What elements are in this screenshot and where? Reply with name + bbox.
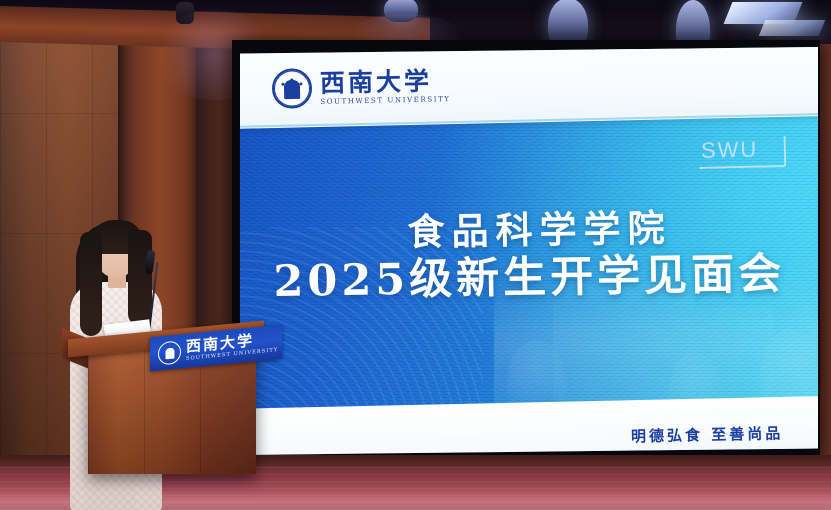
ceiling-light-panel-icon xyxy=(759,20,825,36)
slide-motto: 明德弘食 至善尚品 xyxy=(631,423,784,447)
auditorium-scene: 西南大学 SOUTHWEST UNIVERSITY SWU 食品科学学院 202… xyxy=(0,0,831,510)
ceiling-speaker-icon xyxy=(176,2,194,24)
logo-name-cn: 西南大学 xyxy=(319,68,450,96)
logo-name-en: SOUTHWEST UNIVERSITY xyxy=(320,96,450,106)
podium-seal-icon xyxy=(158,340,181,365)
led-screen[interactable]: 西南大学 SOUTHWEST UNIVERSITY SWU 食品科学学院 202… xyxy=(240,47,818,455)
university-seal-icon xyxy=(271,68,312,109)
university-logo: 西南大学 SOUTHWEST UNIVERSITY xyxy=(271,65,450,109)
slide-title-group: 食品科学学院 2025级新生开学见面会 xyxy=(240,206,818,308)
hair-side-left xyxy=(80,232,102,336)
swu-watermark: SWU xyxy=(699,136,787,169)
hair-side-right xyxy=(128,230,152,326)
slide-title-line2: 2025级新生开学见面会 xyxy=(240,250,818,307)
stage-light-icon xyxy=(384,0,418,22)
slide-title-line1: 食品科学学院 xyxy=(261,206,818,256)
